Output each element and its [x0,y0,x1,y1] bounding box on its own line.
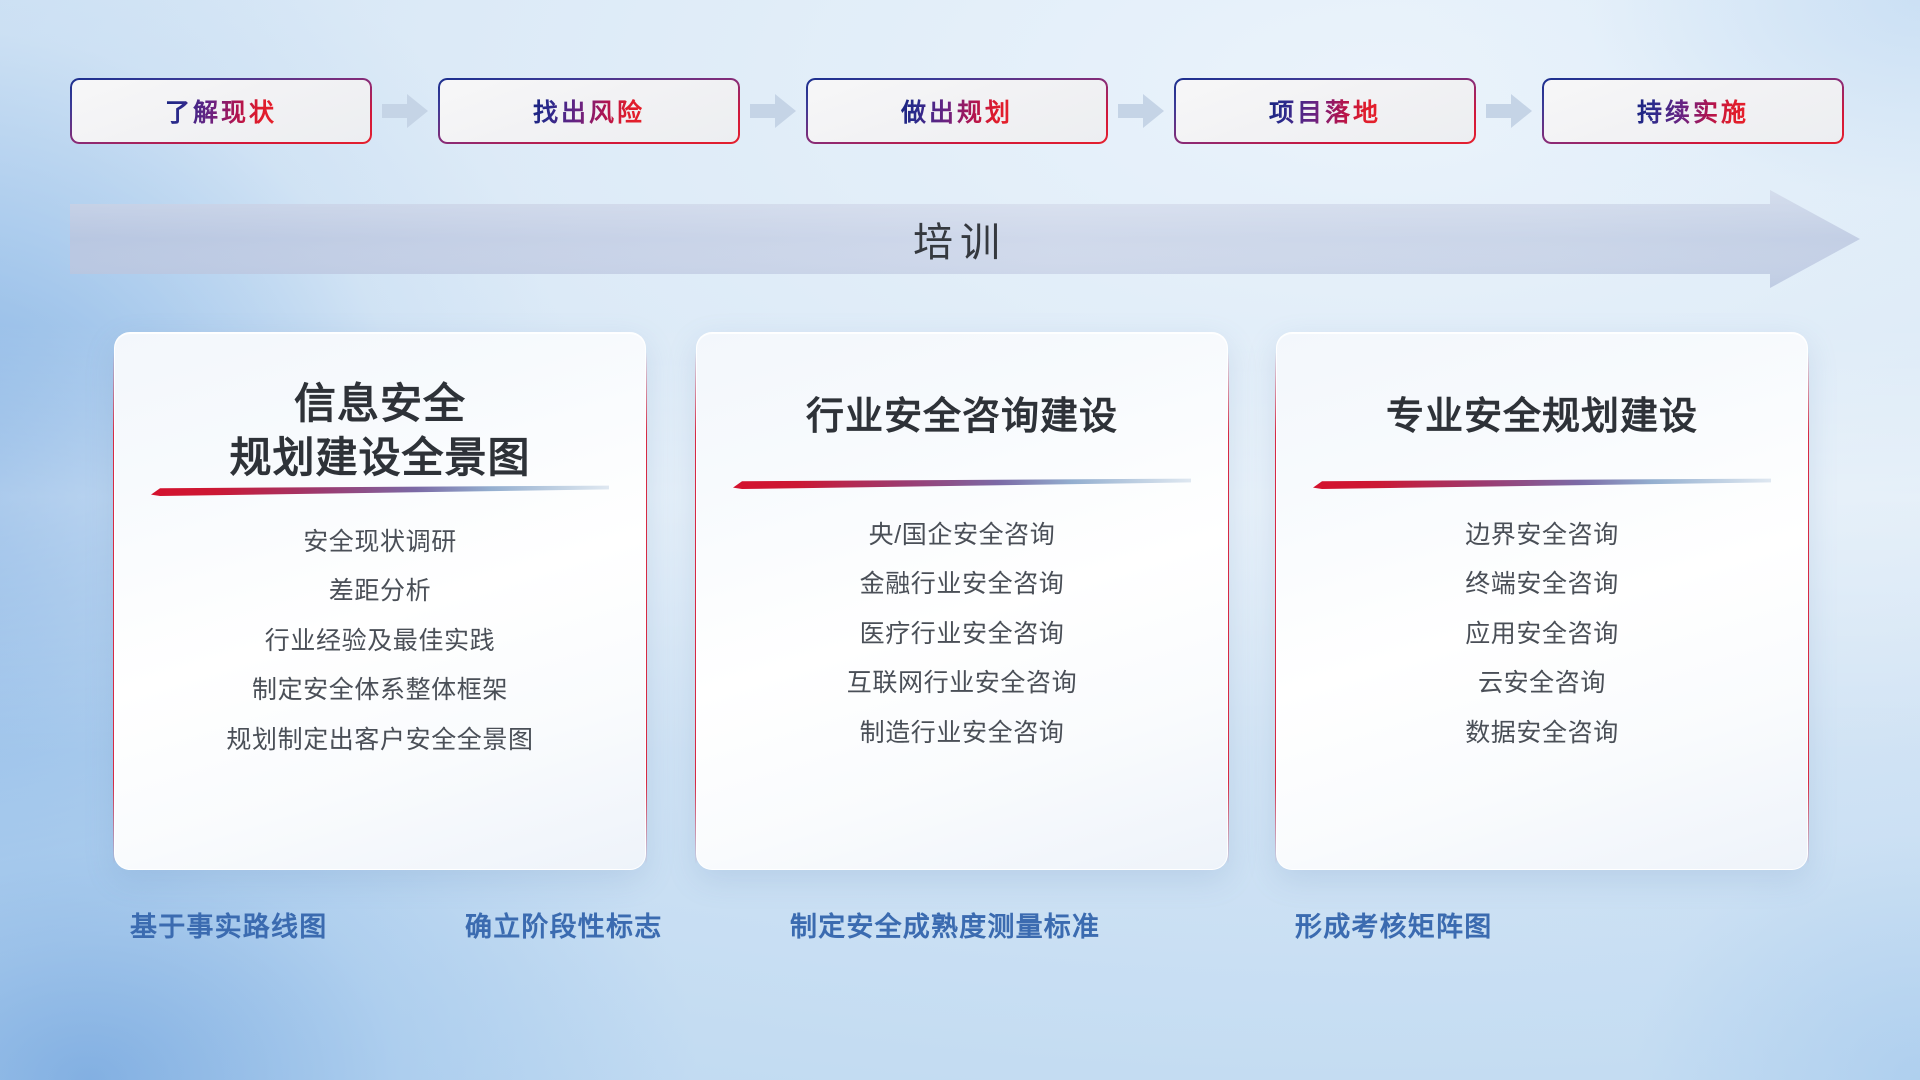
list-item: 数据安全咨询 [1465,713,1619,754]
list-item: 边界安全咨询 [1465,515,1619,556]
process-step-2-label: 找出风险 [533,93,645,129]
list-item: 制定安全体系整体框架 [252,670,508,711]
card-body: 信息安全 规划建设全景图 [114,332,646,870]
card-divider-wrap [697,478,1227,489]
card-row: 信息安全 规划建设全景图 [0,332,1920,892]
process-step-row: 了解现状 找出风险 做出规划 [70,78,1856,144]
process-step-3-label: 做出规划 [901,93,1013,129]
card-item-list: 安全现状调研 差距分析 行业经验及最佳实践 制定安全体系整体框架 规划制定出客户… [115,522,645,761]
list-item: 云安全咨询 [1478,663,1606,704]
slide-stage: 了解现状 找出风险 做出规划 [0,0,1920,1080]
list-item: 行业经验及最佳实践 [265,621,495,662]
card-title: 信息安全 规划建设全景图 [229,377,530,485]
card-title: 行业安全咨询建设 [806,393,1118,442]
process-step-5-label: 持续实施 [1637,93,1749,129]
right-arrow-icon [1476,78,1542,144]
bottom-label-row: 基于事实路线图 确立阶段性标志 制定安全成熟度测量标准 形成考核矩阵图 [0,905,1920,957]
card-industry-consulting[interactable]: 行业安全咨询建设 [696,332,1228,870]
process-step-group-3: 做出规划 [806,78,1174,144]
gradient-divider-icon [151,485,609,496]
card-divider-wrap [1277,478,1807,489]
list-item: 医疗行业安全咨询 [860,614,1065,655]
training-banner-label: 培训 [70,190,1850,288]
process-step-1[interactable]: 了解现状 [70,78,372,144]
card-title: 专业安全规划建设 [1386,393,1698,442]
process-step-5[interactable]: 持续实施 [1542,78,1844,144]
gradient-divider-icon [1313,478,1771,489]
card-divider-wrap [115,485,645,496]
process-step-group-4: 项目落地 [1174,78,1542,144]
list-item: 应用安全咨询 [1465,614,1619,655]
process-step-4-label: 项目落地 [1269,93,1381,129]
training-banner: 培训 [70,190,1860,288]
right-arrow-icon [372,78,438,144]
process-step-group-5: 持续实施 [1542,78,1844,144]
card-professional-planning[interactable]: 专业安全规划建设 [1276,332,1808,870]
process-step-2[interactable]: 找出风险 [438,78,740,144]
right-arrow-icon [740,78,806,144]
process-step-3[interactable]: 做出规划 [806,78,1108,144]
list-item: 制造行业安全咨询 [860,713,1065,754]
card-item-list: 央/国企安全咨询 金融行业安全咨询 医疗行业安全咨询 互联网行业安全咨询 制造行… [697,515,1227,754]
card-security-panorama[interactable]: 信息安全 规划建设全景图 [114,332,646,870]
process-step-1-label: 了解现状 [165,93,277,129]
list-item: 终端安全咨询 [1465,564,1619,605]
process-step-group-2: 找出风险 [438,78,806,144]
process-step-group-1: 了解现状 [70,78,438,144]
bottom-label-matrix: 形成考核矩阵图 [1295,905,1492,944]
list-item: 央/国企安全咨询 [869,515,1056,556]
bottom-label-milestones: 确立阶段性标志 [465,905,662,944]
list-item: 安全现状调研 [303,522,457,563]
bottom-label-roadmap: 基于事实路线图 [130,905,327,944]
card-item-list: 边界安全咨询 终端安全咨询 应用安全咨询 云安全咨询 数据安全咨询 [1277,515,1807,754]
list-item: 互联网行业安全咨询 [847,663,1077,704]
card-body: 行业安全咨询建设 [696,332,1228,870]
bottom-label-maturity: 制定安全成熟度测量标准 [790,905,1100,944]
list-item: 金融行业安全咨询 [860,564,1065,605]
card-body: 专业安全规划建设 [1276,332,1808,870]
gradient-divider-icon [733,478,1191,489]
process-step-4[interactable]: 项目落地 [1174,78,1476,144]
list-item: 规划制定出客户安全全景图 [226,720,533,761]
right-arrow-icon [1108,78,1174,144]
list-item: 差距分析 [329,571,431,612]
